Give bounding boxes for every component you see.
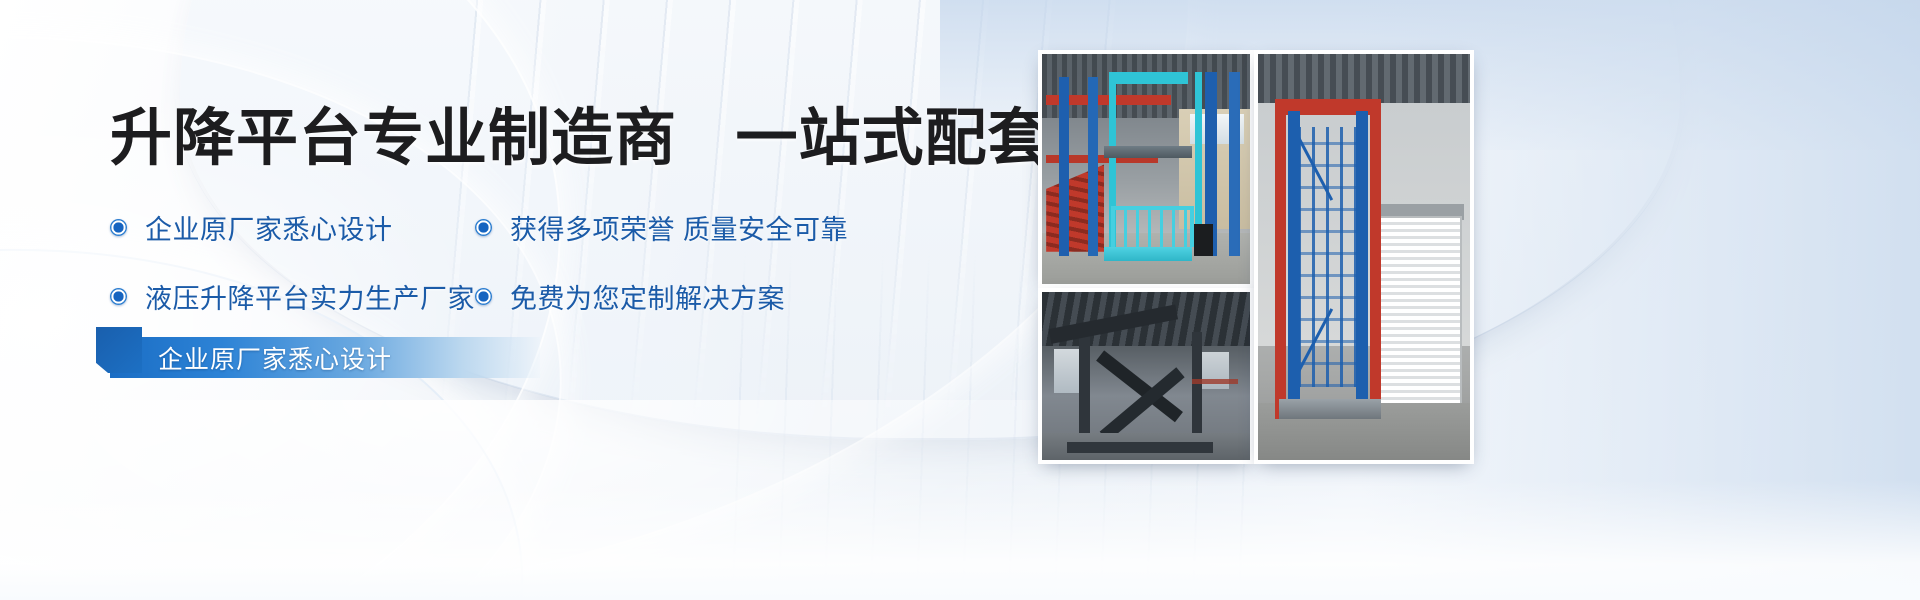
photo-rail-lift-shutter[interactable] bbox=[1254, 50, 1474, 464]
headline: 升降平台专业制造商 一站式配套服务 bbox=[110, 108, 1177, 170]
bullet-dot-icon bbox=[110, 288, 127, 305]
mezzanine-deck bbox=[1104, 146, 1191, 158]
feature-label: 免费为您定制解决方案 bbox=[510, 277, 785, 316]
photo-collage bbox=[1030, 0, 1920, 600]
blue-mesh-cage bbox=[1298, 127, 1357, 387]
highlight-ribbon[interactable]: 企业原厂家悉心设计 bbox=[110, 337, 540, 378]
blue-rack-left bbox=[1059, 77, 1069, 256]
blue-guide-rail-right bbox=[1356, 111, 1369, 411]
photo-scene bbox=[1042, 292, 1250, 460]
bullet-dot-icon bbox=[110, 219, 127, 236]
photo-cyan-guide-rail-lift[interactable] bbox=[1038, 50, 1254, 288]
feature-item-3[interactable]: 液压升降平台实力生产厂家 bbox=[110, 277, 475, 316]
headline-primary: 升降平台专业制造商 bbox=[110, 104, 677, 173]
blue-rack-right-2 bbox=[1229, 72, 1239, 256]
feature-label: 企业原厂家悉心设计 bbox=[145, 208, 393, 247]
lift-guard-rail bbox=[1111, 206, 1194, 247]
feature-label: 液压升降平台实力生产厂家 bbox=[145, 277, 475, 316]
control-box bbox=[1194, 224, 1213, 256]
feature-item-1[interactable]: 企业原厂家悉心设计 bbox=[110, 208, 475, 247]
bullet-dot-icon bbox=[475, 219, 492, 236]
red-post-left bbox=[1275, 103, 1286, 420]
banner-content: 升降平台专业制造商 一站式配套服务 企业原厂家悉心设计 获得多项荣誉 质量安全可… bbox=[0, 0, 1040, 600]
red-crane-beam bbox=[1192, 379, 1238, 384]
white-roller-shutter bbox=[1373, 216, 1462, 411]
lift-platform bbox=[1279, 399, 1381, 419]
workshop-column-right bbox=[1192, 332, 1202, 443]
blue-rack-left-2 bbox=[1088, 77, 1098, 256]
feature-row-1: 企业原厂家悉心设计 获得多项荣誉 质量安全可靠 bbox=[110, 208, 970, 247]
scissor-base bbox=[1067, 442, 1213, 454]
feature-row-2: 液压升降平台实力生产厂家 免费为您定制解决方案 bbox=[110, 277, 970, 316]
feature-list: 企业原厂家悉心设计 获得多项荣誉 质量安全可靠 液压升降平台实力生产厂家 免费为… bbox=[110, 208, 970, 346]
photo-scene bbox=[1042, 54, 1250, 284]
feature-item-4[interactable]: 免费为您定制解决方案 bbox=[475, 277, 935, 316]
photo-scissor-lift-workshop[interactable] bbox=[1038, 288, 1254, 464]
red-post-right bbox=[1370, 103, 1381, 420]
feature-item-2[interactable]: 获得多项荣誉 质量安全可靠 bbox=[475, 208, 935, 247]
photo-scene bbox=[1258, 54, 1470, 460]
blue-guide-rail-left bbox=[1288, 111, 1301, 411]
workshop-column-left bbox=[1079, 332, 1089, 443]
feature-label: 获得多项荣誉 质量安全可靠 bbox=[510, 208, 848, 247]
lift-platform bbox=[1104, 247, 1191, 261]
ribbon-tab-icon bbox=[96, 327, 142, 373]
promo-banner: 升降平台专业制造商 一站式配套服务 企业原厂家悉心设计 获得多项荣誉 质量安全可… bbox=[0, 0, 1920, 600]
ribbon-label: 企业原厂家悉心设计 bbox=[158, 340, 392, 376]
bullet-dot-icon bbox=[475, 288, 492, 305]
